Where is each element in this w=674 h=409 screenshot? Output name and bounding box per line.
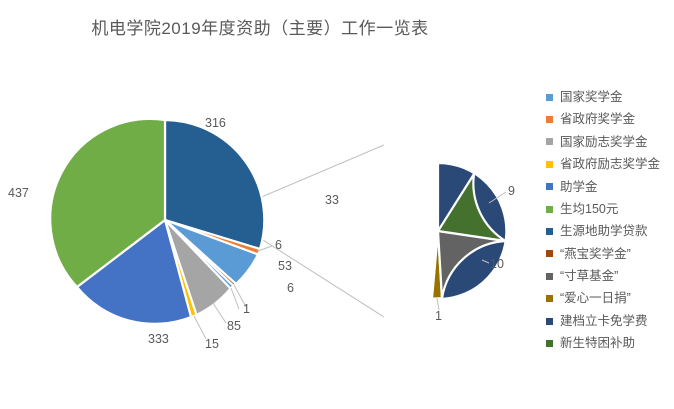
legend-swatch-icon-8: [546, 273, 553, 280]
plot-area: 316 437 333 6 53 6 1 85 15 33 9 10 1: [0, 55, 520, 400]
legend-item-2[interactable]: 国家励志奖学金: [528, 131, 674, 153]
chart-legend: 国家奖学金 省政府奖学金 国家励志奖学金 省政府励志奖学金 助学金 生均150元…: [528, 86, 674, 355]
legend-item-11[interactable]: 新生特困补助: [528, 332, 674, 354]
legend-item-1[interactable]: 省政府奖学金: [528, 108, 674, 130]
main-pie: [50, 119, 264, 324]
data-label-secondary-1: 1: [435, 310, 442, 323]
legend-label-1: 省政府奖学金: [560, 113, 635, 126]
legend-item-10[interactable]: 建档立卡免学费: [528, 310, 674, 332]
legend-label-8: “寸草基金”: [560, 270, 618, 283]
data-label-secondary-10: 10: [490, 258, 504, 271]
legend-item-0[interactable]: 国家奖学金: [528, 86, 674, 108]
legend-label-9: “爱心一日捐”: [560, 292, 631, 305]
pie-svg: [0, 55, 520, 400]
legend-swatch-icon-6: [546, 228, 553, 235]
legend-swatch-icon-11: [546, 340, 553, 347]
data-label-secondary-9: 9: [508, 185, 515, 198]
legend-item-8[interactable]: “寸草基金”: [528, 265, 674, 287]
chart-title: 机电学院2019年度资助（主要）工作一览表: [0, 14, 520, 39]
legend-swatch-icon-1: [546, 116, 553, 123]
legend-item-7[interactable]: “燕宝奖学金”: [528, 243, 674, 265]
pie-of-pie-chart: 机电学院2019年度资助（主要）工作一览表: [0, 0, 674, 409]
legend-swatch-icon-10: [546, 318, 553, 325]
legend-label-0: 国家奖学金: [560, 91, 623, 104]
legend-item-3[interactable]: 省政府励志奖学金: [528, 153, 674, 175]
legend-label-6: 生源地助学贷款: [560, 225, 648, 238]
data-label-15: 15: [205, 338, 219, 351]
legend-label-5: 生均150元: [560, 203, 618, 216]
data-label-333: 333: [148, 333, 169, 346]
legend-label-2: 国家励志奖学金: [560, 136, 648, 149]
data-label-6-a: 6: [275, 239, 282, 252]
legend-swatch-icon-2: [546, 138, 553, 145]
legend-label-7: “燕宝奖学金”: [560, 248, 631, 261]
legend-item-4[interactable]: 助学金: [528, 176, 674, 198]
legend-item-9[interactable]: “爱心一日捐”: [528, 288, 674, 310]
legend-item-5[interactable]: 生均150元: [528, 198, 674, 220]
legend-swatch-icon-4: [546, 183, 553, 190]
data-label-53: 53: [278, 260, 292, 273]
legend-swatch-icon-0: [546, 94, 553, 101]
data-label-316: 316: [205, 117, 226, 130]
legend-swatch-icon-5: [546, 206, 553, 213]
data-label-85: 85: [227, 320, 241, 333]
legend-item-6[interactable]: 生源地助学贷款: [528, 220, 674, 242]
data-label-6-b: 6: [287, 282, 294, 295]
legend-label-11: 新生特困补助: [560, 337, 635, 350]
legend-label-4: 助学金: [560, 181, 598, 194]
legend-swatch-icon-3: [546, 161, 553, 168]
data-label-437: 437: [8, 187, 29, 200]
legend-swatch-icon-9: [546, 295, 553, 302]
legend-swatch-icon-7: [546, 250, 553, 257]
data-label-33: 33: [325, 194, 339, 207]
legend-label-10: 建档立卡免学费: [560, 315, 648, 328]
legend-label-3: 省政府励志奖学金: [560, 158, 660, 171]
secondary-pie: [432, 163, 506, 299]
data-label-1: 1: [243, 303, 250, 316]
